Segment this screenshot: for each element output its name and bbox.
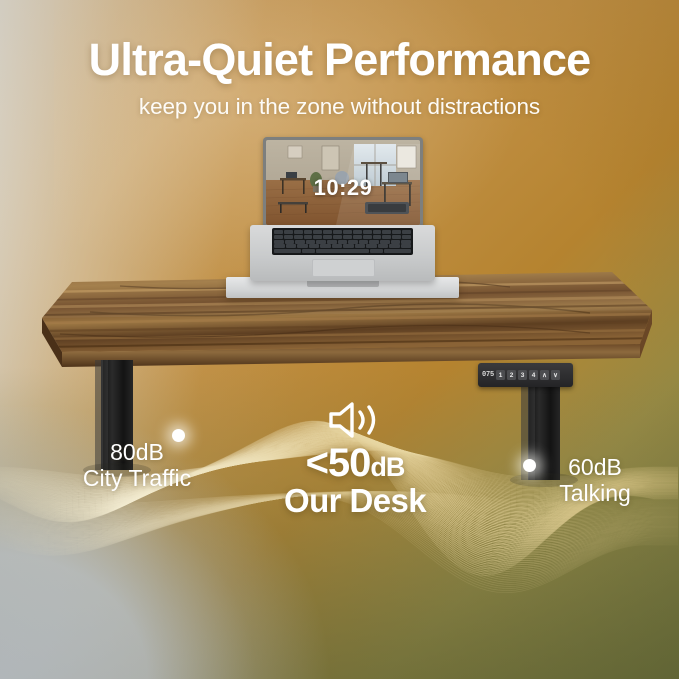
headline-block: Ultra-Quiet Performance keep you in the …	[0, 36, 679, 120]
noise-level-city-traffic: 80dB	[42, 440, 232, 466]
noise-level-our-desk-number: <50	[306, 441, 371, 485]
marker-dot-city-traffic	[172, 429, 185, 442]
promo-image: 075 1 2 3 4 ∧ ∨	[0, 0, 679, 679]
noise-source-talking: Talking	[515, 481, 675, 507]
laptop-trackpad[interactable]	[312, 259, 375, 277]
laptop-keyboard[interactable]	[272, 228, 413, 255]
preset-button-2[interactable]: 2	[507, 370, 516, 380]
height-display: 075	[482, 371, 494, 379]
preset-button-1[interactable]: 1	[496, 370, 505, 380]
noise-label-talking: 60dB Talking	[515, 455, 675, 507]
screen-clock: 10:29	[266, 175, 420, 201]
noise-source-our-desk: Our Desk	[255, 483, 455, 519]
noise-level-our-desk-unit: dB	[370, 452, 404, 482]
height-control-panel[interactable]: 075 1 2 3 4 ∧ ∨	[478, 363, 573, 387]
speaker-wave-icon	[327, 400, 383, 440]
noise-label-city-traffic: 80dB City Traffic	[42, 440, 232, 492]
noise-level-talking: 60dB	[515, 455, 675, 481]
laptop-base	[250, 225, 435, 281]
laptop-screen: 10:29	[266, 140, 420, 225]
marker-dot-talking	[523, 459, 536, 472]
raise-up-button[interactable]: ∧	[540, 370, 549, 380]
page-subtitle: keep you in the zone without distraction…	[0, 94, 679, 120]
laptop: 10:29	[250, 137, 435, 307]
preset-button-3[interactable]: 3	[518, 370, 527, 380]
laptop-lid: 10:29	[263, 137, 423, 228]
noise-source-city-traffic: City Traffic	[42, 466, 232, 492]
page-title: Ultra-Quiet Performance	[0, 36, 679, 84]
lower-down-button[interactable]: ∨	[551, 370, 560, 380]
noise-level-our-desk: <50dB	[255, 443, 455, 483]
preset-button-4[interactable]: 4	[529, 370, 538, 380]
noise-label-our-desk: <50dB Our Desk	[255, 400, 455, 519]
